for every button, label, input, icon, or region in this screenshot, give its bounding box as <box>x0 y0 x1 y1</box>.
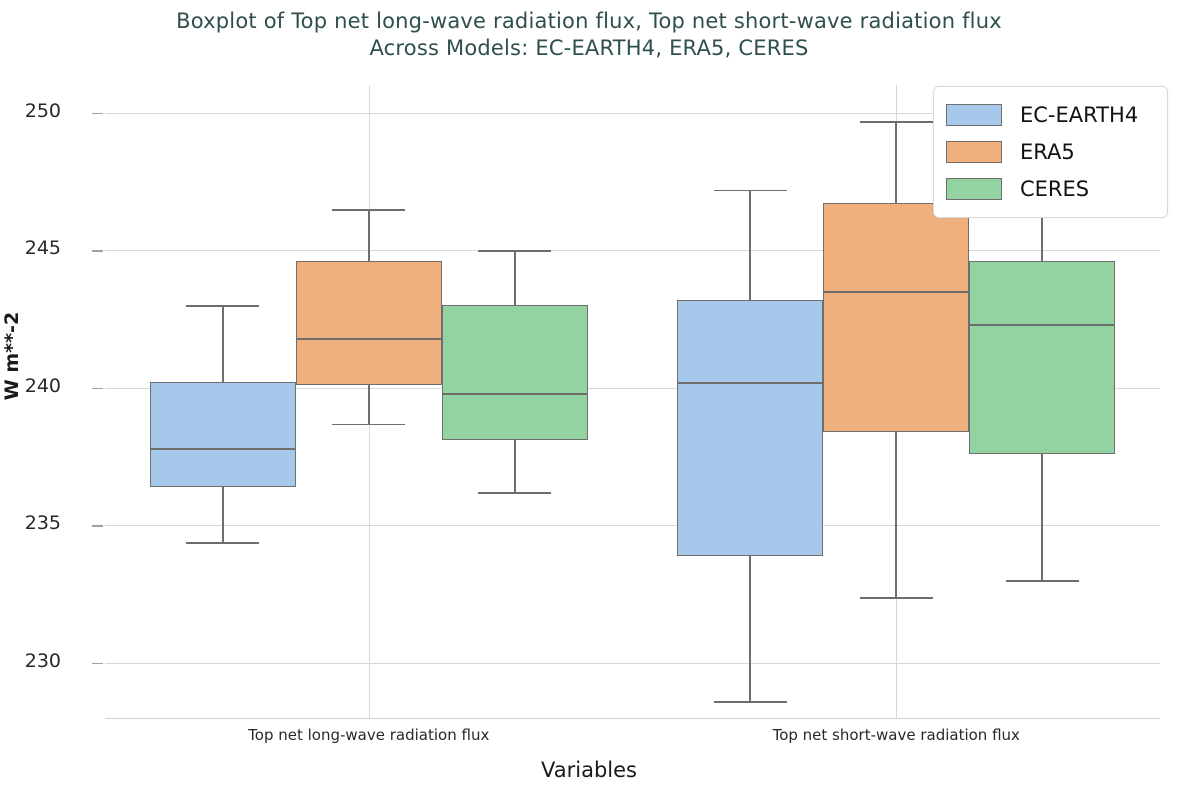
median-ec-earth4-0 <box>150 448 296 450</box>
legend: EC-EARTH4 ERA5 CERES <box>933 86 1168 218</box>
median-era5-0 <box>296 338 442 340</box>
y-tick-label-240: 240 <box>1 375 61 397</box>
x-axis-label: Variables <box>0 758 1178 782</box>
legend-swatch-ceres <box>946 178 1002 200</box>
boxplot-figure: Boxplot of Top net long-wave radiation f… <box>0 0 1178 790</box>
legend-swatch-era5 <box>946 141 1002 163</box>
whisker-cap-upper-ec-earth4-0 <box>186 305 259 307</box>
box-era5-1[interactable] <box>823 203 969 431</box>
legend-item-ec-earth4[interactable]: EC-EARTH4 <box>946 96 1155 133</box>
legend-label-ec-earth4: EC-EARTH4 <box>1020 103 1138 127</box>
whisker-cap-lower-ceres-1 <box>1006 580 1079 582</box>
box-ceres-1[interactable] <box>969 261 1115 454</box>
whisker-lower-ec-earth4-0 <box>222 487 224 542</box>
median-ceres-0 <box>442 393 588 395</box>
whisker-lower-ec-earth4-1 <box>749 556 751 702</box>
whisker-cap-lower-era5-0 <box>332 424 405 426</box>
whisker-upper-ec-earth4-1 <box>749 190 751 300</box>
whisker-cap-upper-era5-1 <box>860 121 933 123</box>
gridline-y-245 <box>105 250 1160 251</box>
box-era5-0[interactable] <box>296 261 442 385</box>
legend-item-era5[interactable]: ERA5 <box>946 133 1155 170</box>
whisker-cap-lower-ec-earth4-0 <box>186 542 259 544</box>
y-tick-label-235: 235 <box>1 512 61 534</box>
whisker-lower-era5-0 <box>368 385 370 424</box>
whisker-upper-era5-0 <box>368 209 370 261</box>
median-era5-1 <box>823 291 969 293</box>
whisker-cap-upper-era5-0 <box>332 209 405 211</box>
y-tick-mark-245 <box>92 250 103 252</box>
chart-title-line-2: Across Models: EC-EARTH4, ERA5, CERES <box>0 35 1178 62</box>
legend-label-era5: ERA5 <box>1020 140 1075 164</box>
legend-label-ceres: CERES <box>1020 177 1089 201</box>
y-tick-label-250: 250 <box>1 100 61 122</box>
box-ceres-0[interactable] <box>442 305 588 440</box>
whisker-lower-ceres-1 <box>1041 454 1043 581</box>
whisker-lower-era5-1 <box>895 432 897 597</box>
chart-title: Boxplot of Top net long-wave radiation f… <box>0 8 1178 62</box>
gridline-y-235 <box>105 525 1160 526</box>
y-tick-mark-230 <box>92 663 103 665</box>
legend-item-ceres[interactable]: CERES <box>946 170 1155 207</box>
whisker-upper-era5-1 <box>895 121 897 204</box>
whisker-cap-lower-era5-1 <box>860 597 933 599</box>
box-ec-earth4-0[interactable] <box>150 382 296 487</box>
x-axis-line <box>105 718 1160 719</box>
y-tick-mark-235 <box>92 525 103 527</box>
median-ceres-1 <box>969 324 1115 326</box>
whisker-cap-upper-ec-earth4-1 <box>714 190 787 192</box>
y-tick-mark-250 <box>92 113 103 115</box>
x-tick-label-0: Top net long-wave radiation flux <box>248 726 489 744</box>
x-tick-label-1: Top net short-wave radiation flux <box>773 726 1020 744</box>
whisker-upper-ceres-0 <box>514 250 516 305</box>
whisker-cap-lower-ec-earth4-1 <box>714 701 787 703</box>
whisker-cap-lower-ceres-0 <box>478 492 551 494</box>
median-ec-earth4-1 <box>677 382 823 384</box>
box-ec-earth4-1[interactable] <box>677 300 823 556</box>
legend-swatch-ec-earth4 <box>946 104 1002 126</box>
whisker-cap-upper-ceres-0 <box>478 250 551 252</box>
whisker-upper-ec-earth4-0 <box>222 305 224 382</box>
whisker-lower-ceres-0 <box>514 440 516 492</box>
gridline-y-230 <box>105 663 1160 664</box>
y-tick-mark-240 <box>92 388 103 390</box>
y-tick-label-230: 230 <box>1 650 61 672</box>
chart-title-line-1: Boxplot of Top net long-wave radiation f… <box>0 8 1178 35</box>
y-tick-label-245: 245 <box>1 237 61 259</box>
